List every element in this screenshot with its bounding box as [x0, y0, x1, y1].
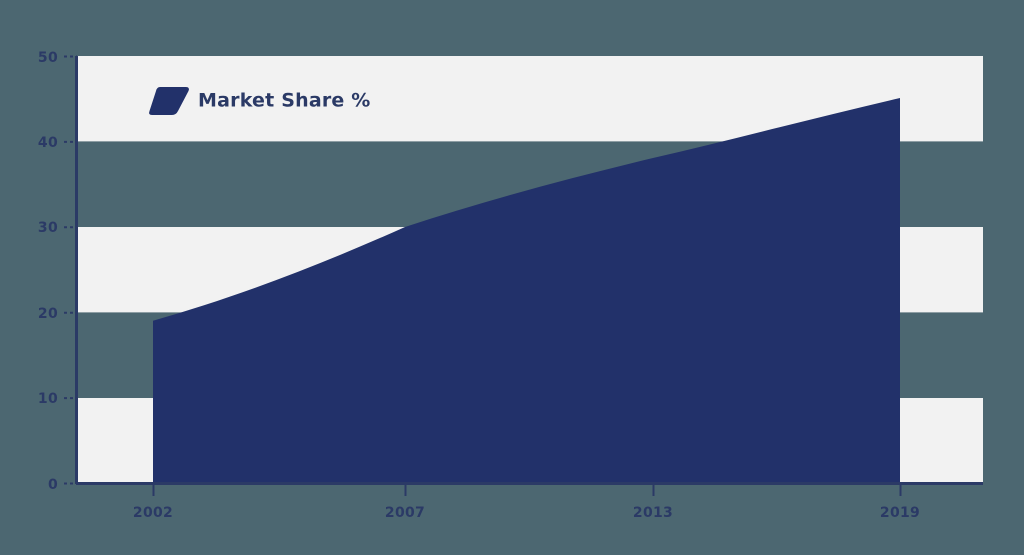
x-tick-label-2002: 2002: [133, 505, 173, 521]
x-tick-label-2019: 2019: [880, 505, 920, 521]
x-tick-label-2013: 2013: [633, 505, 673, 521]
y-tick-label-40: 40: [38, 135, 58, 151]
y-tick-label-20: 20: [38, 306, 58, 322]
series-market-share: [153, 98, 900, 483]
x-axis: 2002 2007 2013 2019: [133, 484, 920, 521]
legend-label-market-share: Market Share %: [198, 90, 371, 112]
y-tick-label-10: 10: [38, 391, 58, 407]
y-tick-label-30: 30: [38, 220, 58, 236]
chart-canvas: 50 40 30 20 10 0 2002 2007 2013 2019: [0, 0, 1024, 555]
area-fill: [153, 98, 900, 483]
y-tick-label-50: 50: [38, 50, 58, 66]
y-axis: 50 40 30 20 10 0: [38, 50, 77, 493]
x-tick-label-2007: 2007: [385, 505, 425, 521]
area-chart: 50 40 30 20 10 0 2002 2007 2013 2019: [0, 0, 1024, 555]
y-tick-label-0: 0: [48, 477, 58, 493]
